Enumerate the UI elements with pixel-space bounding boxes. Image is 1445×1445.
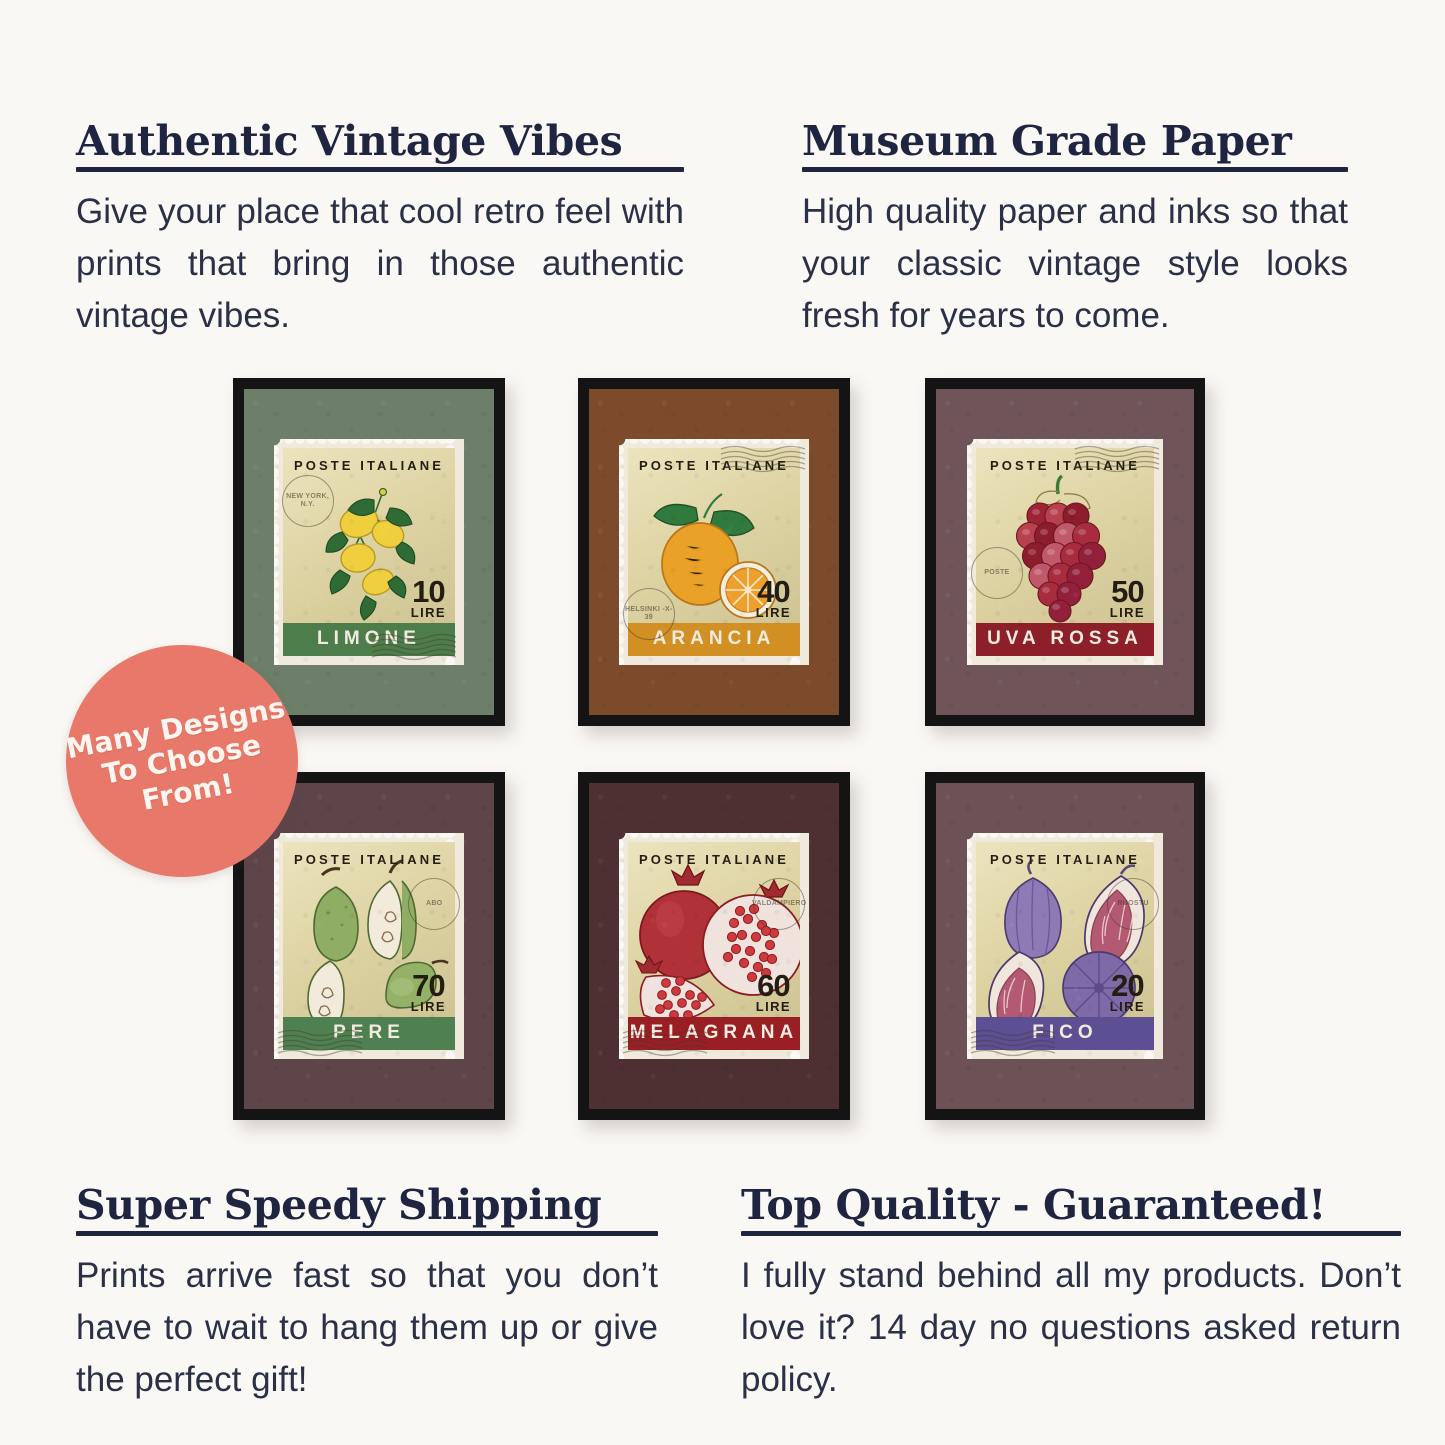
stamp-denomination: 60LIRE	[756, 972, 791, 1013]
postage-stamp-arancia: POSTE ITALIANE40LIREARANCIAHELSINKI -X-3…	[619, 439, 809, 665]
postage-stamp-limone: POSTE ITALIANE10LIRELIMONENEW YORK, N.Y.	[274, 439, 464, 665]
poster-mat: POSTE ITALIANE50LIREUVA ROSSAPOSTE	[936, 389, 1194, 715]
stamp-cancellation-waves	[719, 445, 807, 471]
framed-poster-fico[interactable]: POSTE ITALIANE20LIREFICORUOSTU	[925, 772, 1205, 1120]
poster-mat: POSTE ITALIANE40LIREARANCIAHELSINKI -X-3…	[589, 389, 839, 715]
many-designs-badge: Many Designs To Choose From!	[66, 645, 298, 877]
stamp-denomination: 50LIRE	[1110, 578, 1145, 619]
denomination-value: 60	[756, 972, 791, 1001]
stamp-postmark: HELSINKI -X-39	[623, 588, 675, 640]
infographic-page: Authentic Vintage Vibes Give your place …	[0, 0, 1445, 1445]
stamp-denomination: 10LIRE	[411, 578, 446, 619]
denomination-currency: LIRE	[411, 607, 446, 619]
postage-stamp-melagrana: POSTE ITALIANE60LIREMELAGRANAVALDAMPIERO	[619, 833, 809, 1059]
stamp-country-line: POSTE ITALIANE	[292, 458, 446, 473]
denomination-value: 10	[411, 578, 446, 607]
framed-poster-limone[interactable]: POSTE ITALIANE10LIRELIMONENEW YORK, N.Y.	[233, 378, 505, 726]
stamp-postmark: ABO	[408, 878, 460, 930]
stamp-cancellation-waves	[370, 633, 458, 659]
stamp-cancellation-waves	[621, 1029, 709, 1055]
denomination-value: 50	[1110, 578, 1145, 607]
poster-mat: POSTE ITALIANE20LIREFICORUOSTU	[936, 783, 1194, 1109]
stamp-postmark: NEW YORK, N.Y.	[282, 475, 334, 527]
stamp-fruit-name: UVA ROSSA	[976, 623, 1154, 656]
stamp-country-line: POSTE ITALIANE	[637, 852, 791, 867]
stamp-cancellation-waves	[1073, 445, 1161, 471]
stamp-country-line: POSTE ITALIANE	[985, 852, 1145, 867]
denomination-value: 70	[411, 972, 446, 1001]
framed-poster-arancia[interactable]: POSTE ITALIANE40LIREARANCIAHELSINKI -X-3…	[578, 378, 850, 726]
denomination-value: 40	[756, 578, 791, 607]
postage-stamp-pere: POSTE ITALIANE70LIREPEREABO	[274, 833, 464, 1059]
postage-stamp-uva-rossa: POSTE ITALIANE50LIREUVA ROSSAPOSTE	[967, 439, 1163, 665]
poster-mat: POSTE ITALIANE10LIRELIMONENEW YORK, N.Y.	[244, 389, 494, 715]
denomination-value: 20	[1110, 972, 1145, 1001]
denomination-currency: LIRE	[411, 1001, 446, 1013]
stamp-cancellation-waves	[969, 1029, 1057, 1055]
framed-poster-uva-rossa[interactable]: POSTE ITALIANE50LIREUVA ROSSAPOSTE	[925, 378, 1205, 726]
poster-mat: POSTE ITALIANE70LIREPEREABO	[244, 783, 494, 1109]
stamp-cancellation-waves	[276, 1029, 364, 1055]
postage-stamp-fico: POSTE ITALIANE20LIREFICORUOSTU	[967, 833, 1163, 1059]
stamp-postmark: VALDAMPIERO	[753, 878, 805, 930]
badge-label: Many Designs To Choose From!	[59, 691, 305, 831]
stamp-denomination: 20LIRE	[1110, 972, 1145, 1013]
stamp-denomination: 40LIRE	[756, 578, 791, 619]
stamp-country-line: POSTE ITALIANE	[292, 852, 446, 867]
denomination-currency: LIRE	[756, 607, 791, 619]
denomination-currency: LIRE	[1110, 607, 1145, 619]
stamp-denomination: 70LIRE	[411, 972, 446, 1013]
denomination-currency: LIRE	[756, 1001, 791, 1013]
denomination-currency: LIRE	[1110, 1001, 1145, 1013]
framed-poster-melagrana[interactable]: POSTE ITALIANE60LIREMELAGRANAVALDAMPIERO	[578, 772, 850, 1120]
stamp-postmark: RUOSTU	[1107, 878, 1159, 930]
poster-mat: POSTE ITALIANE60LIREMELAGRANAVALDAMPIERO	[589, 783, 839, 1109]
stamp-postmark: POSTE	[971, 547, 1023, 599]
